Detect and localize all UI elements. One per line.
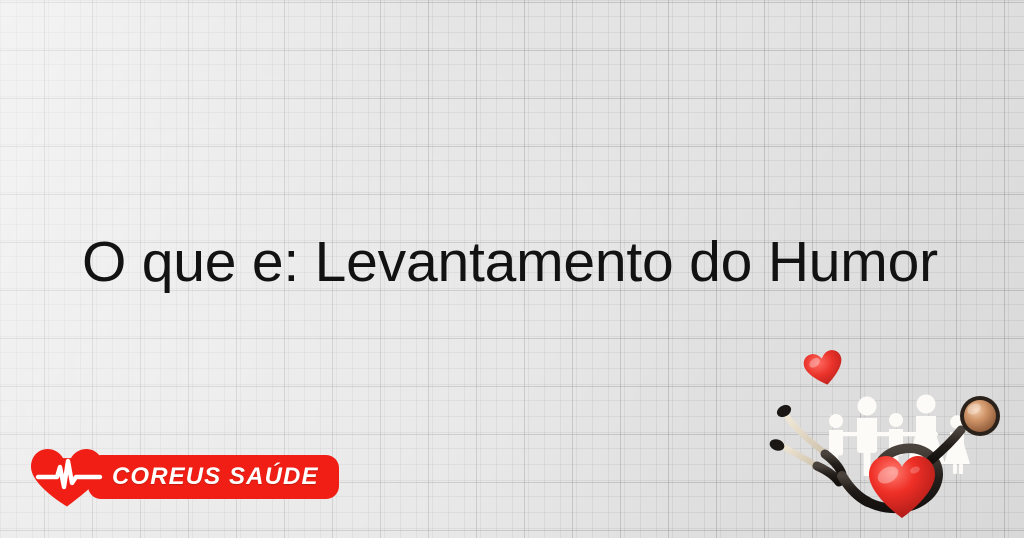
page-title: O que e: Levantamento do Humor: [82, 232, 962, 294]
stethoscope-ear-tube-left: [785, 413, 825, 453]
small-heart-icon: [802, 348, 846, 388]
heart-ecg-icon: [28, 446, 106, 508]
brand-name-badge: COREUS SAÚDE: [90, 457, 337, 497]
stethoscope-ear-tip-right: [768, 437, 786, 452]
slide-canvas: O que e: Levantamento do Humor COREUS SA…: [0, 0, 1024, 538]
stethoscope-ear-tube-right: [779, 444, 817, 466]
brand-name-text: COREUS SAÚDE: [112, 463, 319, 491]
health-family-stethoscope-illustration: [768, 344, 1018, 534]
brand-logo[interactable]: COREUS SAÚDE: [28, 446, 337, 508]
stethoscope-chestpiece: [960, 396, 1000, 436]
